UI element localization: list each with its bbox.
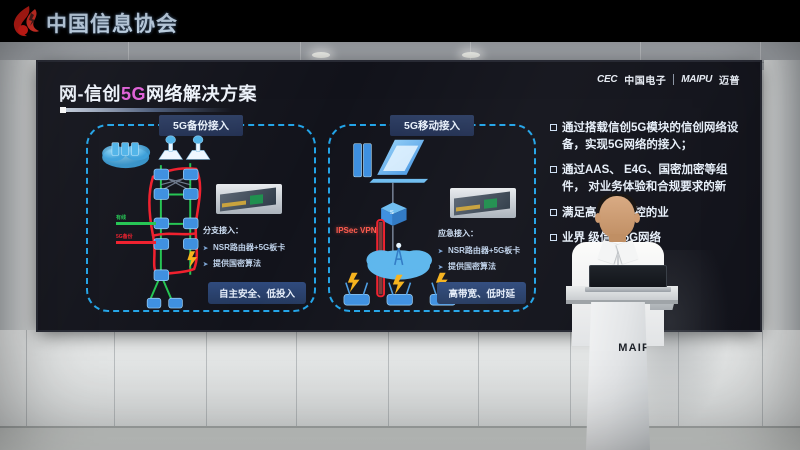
ceiling-light xyxy=(312,52,330,58)
nic-card-icon xyxy=(450,188,516,218)
backup-spec-list: 分支接入： NSR路由器+5G板卡 提供国密算法 xyxy=(203,223,285,271)
bullet-square-icon xyxy=(550,209,557,216)
legend-swatch-backup xyxy=(116,241,156,244)
legend-label-backup: 5G备份 xyxy=(116,233,156,240)
title-underline xyxy=(60,108,232,112)
presenter-ear-right xyxy=(634,213,640,223)
bullet-square-icon xyxy=(550,124,557,131)
legend-item-wired: 有线 xyxy=(116,214,156,225)
maipu-name: 迈普 xyxy=(719,72,740,87)
topology-legend: 有线 5G备份 xyxy=(116,214,156,252)
laptop-screen xyxy=(589,265,667,288)
backup-footer-badge: 自主安全、低投入 xyxy=(208,282,306,304)
backup-spec-item-1: NSR路由器+5G板卡 xyxy=(203,243,285,252)
bullet-square-icon xyxy=(550,234,557,241)
bullet-text: 通过AAS、 E4G、国密加密等组件， 对业务体验和合规要求的新 xyxy=(562,162,746,195)
mobile-spec-item-1: NSR路由器+5G板卡 xyxy=(438,246,520,255)
corporate-logos: CEC 中国电子 MAIPU 迈普 xyxy=(597,72,740,87)
broadcaster-name: 中国信息协会 xyxy=(46,8,178,38)
backup-spec-item-2: 提供国密算法 xyxy=(203,259,261,268)
bullet-text: 通过搭载信创5G模块的信创网络设备，实现5G网络的接入； xyxy=(562,120,746,153)
slide-title: 网-信创5G网络解决方案 xyxy=(59,80,257,106)
legend-swatch-wired xyxy=(116,222,156,225)
ceiling-light xyxy=(462,52,480,58)
title-underline-dot xyxy=(60,107,66,113)
logo-divider xyxy=(673,74,674,85)
mobile-spec-title: 应急接入： xyxy=(438,226,520,241)
backup-spec-title: 分支接入： xyxy=(203,223,285,238)
maipu-mark: MAIPU xyxy=(681,74,712,85)
podium: MAIPU xyxy=(566,286,678,450)
ipsec-vpn-label: IPSec VPN xyxy=(336,226,376,235)
slide-title-highlight: 5G xyxy=(121,84,146,104)
presenter-head xyxy=(599,196,635,238)
legend-item-backup: 5G备份 xyxy=(116,233,156,244)
scene-root: 网-信创5G网络解决方案 CEC 中国电子 MAIPU 迈普 5G备份接入 xyxy=(0,0,800,450)
podium-body: MAIPU xyxy=(586,302,650,450)
cec-name: 中国电子 xyxy=(624,72,666,87)
bullet-square-icon xyxy=(550,166,557,173)
laptop xyxy=(585,265,671,293)
flame-logo-icon xyxy=(9,5,43,38)
podium-brand-logo: MAIPU xyxy=(616,342,662,354)
laptop-base xyxy=(585,287,671,292)
cec-mark: CEC xyxy=(597,74,617,85)
svg-text:S: S xyxy=(390,210,394,216)
slide-title-main: 网-信创 xyxy=(59,84,121,104)
panel-backup-access: 5G备份接入 xyxy=(86,124,316,312)
presenter-ear-left xyxy=(595,213,601,223)
nic-card-icon xyxy=(216,184,282,214)
bullet-item: 通过AAS、 E4G、国密加密等组件， 对业务体验和合规要求的新 xyxy=(550,162,746,195)
broadcast-bar: 中国信息协会 xyxy=(0,0,800,42)
legend-label-wired: 有线 xyxy=(116,214,156,221)
mobile-footer-badge: 高带宽、低时延 xyxy=(437,282,526,304)
panel-mobile-access: 5G移动接入 xyxy=(328,124,536,312)
bullet-item: 通过搭载信创5G模块的信创网络设备，实现5G网络的接入； xyxy=(550,120,746,153)
mobile-spec-list: 应急接入： NSR路由器+5G板卡 提供国密算法 xyxy=(438,226,520,274)
slide-title-tail: 网络解决方案 xyxy=(146,84,257,104)
mobile-spec-item-2: 提供国密算法 xyxy=(438,262,496,271)
